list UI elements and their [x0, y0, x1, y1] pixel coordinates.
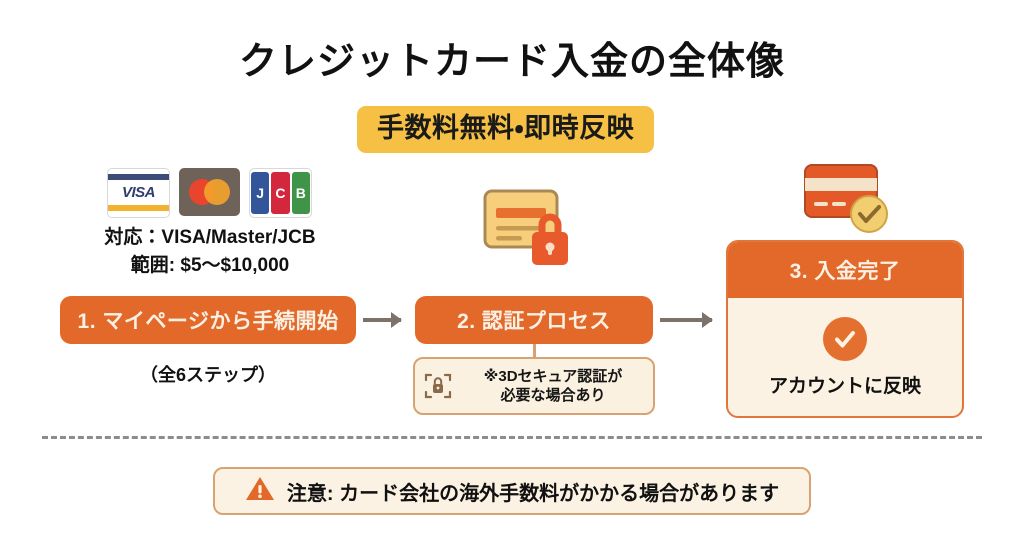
visa-logo-text: VISA [108, 184, 169, 201]
note-line-1: ※3Dセキュア認証が [461, 367, 645, 387]
mastercard-orange-circle [204, 179, 230, 205]
step-3-card[interactable]: 3. 入金完了 アカウントに反映 [726, 240, 964, 418]
jcb-blue-bar: J [251, 172, 269, 214]
check-circle-icon [823, 317, 867, 361]
jcb-red-bar: C [271, 172, 289, 214]
arrow-step2-to-step3-icon [660, 318, 712, 322]
note-connector-line [533, 344, 536, 358]
visa-logo-icon: VISA [107, 168, 170, 218]
jcb-letter-j: J [251, 185, 269, 201]
card-with-check-icon [802, 162, 894, 243]
step-1-caption: （全6ステップ） [60, 361, 356, 387]
jcb-logo-icon: J C B [249, 168, 312, 218]
section-divider [42, 436, 982, 439]
step-3-body-label: アカウントに反映 [769, 371, 921, 398]
jcb-letter-c: C [271, 185, 289, 201]
visa-top-stripe [108, 174, 169, 180]
scan-lock-icon [423, 371, 453, 401]
step-1-pill[interactable]: 1. マイページから手続開始 [60, 296, 356, 344]
step-3-body: アカウントに反映 [728, 298, 962, 416]
jcb-green-bar: B [292, 172, 310, 214]
note-line-2: 必要な場合あり [461, 386, 645, 406]
card-brand-logos: VISA J C B [107, 168, 312, 218]
brand-support-captions: 対応：VISA/Master/JCB 範囲: $5〜$10,000 [0, 224, 420, 279]
amount-range-text: 範囲: $5〜$10,000 [0, 252, 420, 280]
page-title: クレジットカード入金の全体像 [0, 30, 1024, 85]
step-3-header: 3. 入金完了 [728, 242, 962, 298]
support-brands-text: 対応：VISA/Master/JCB [0, 224, 420, 252]
step-2-pill[interactable]: 2. 認証プロセス [415, 296, 653, 344]
visa-bottom-stripe [108, 205, 169, 211]
card-with-lock-icon [482, 186, 574, 277]
jcb-letter-b: B [292, 185, 310, 201]
arrow-step1-to-step2-icon [363, 318, 401, 322]
three-d-secure-note: ※3Dセキュア認証が 必要な場合あり [413, 357, 655, 415]
three-d-secure-note-text: ※3Dセキュア認証が 必要な場合あり [461, 367, 645, 406]
warning-triangle-icon [245, 475, 275, 507]
warning-banner: 注意: カード会社の海外手数料がかかる場合があります [213, 467, 811, 515]
infographic-canvas: クレジットカード入金の全体像 手数料無料・即時反映 VISA J C B 対応：… [0, 0, 1024, 541]
warning-text: 注意: カード会社の海外手数料がかかる場合があります [287, 477, 779, 506]
mastercard-logo-icon [179, 168, 240, 216]
highlight-badge: 手数料無料・即時反映 [357, 106, 654, 153]
